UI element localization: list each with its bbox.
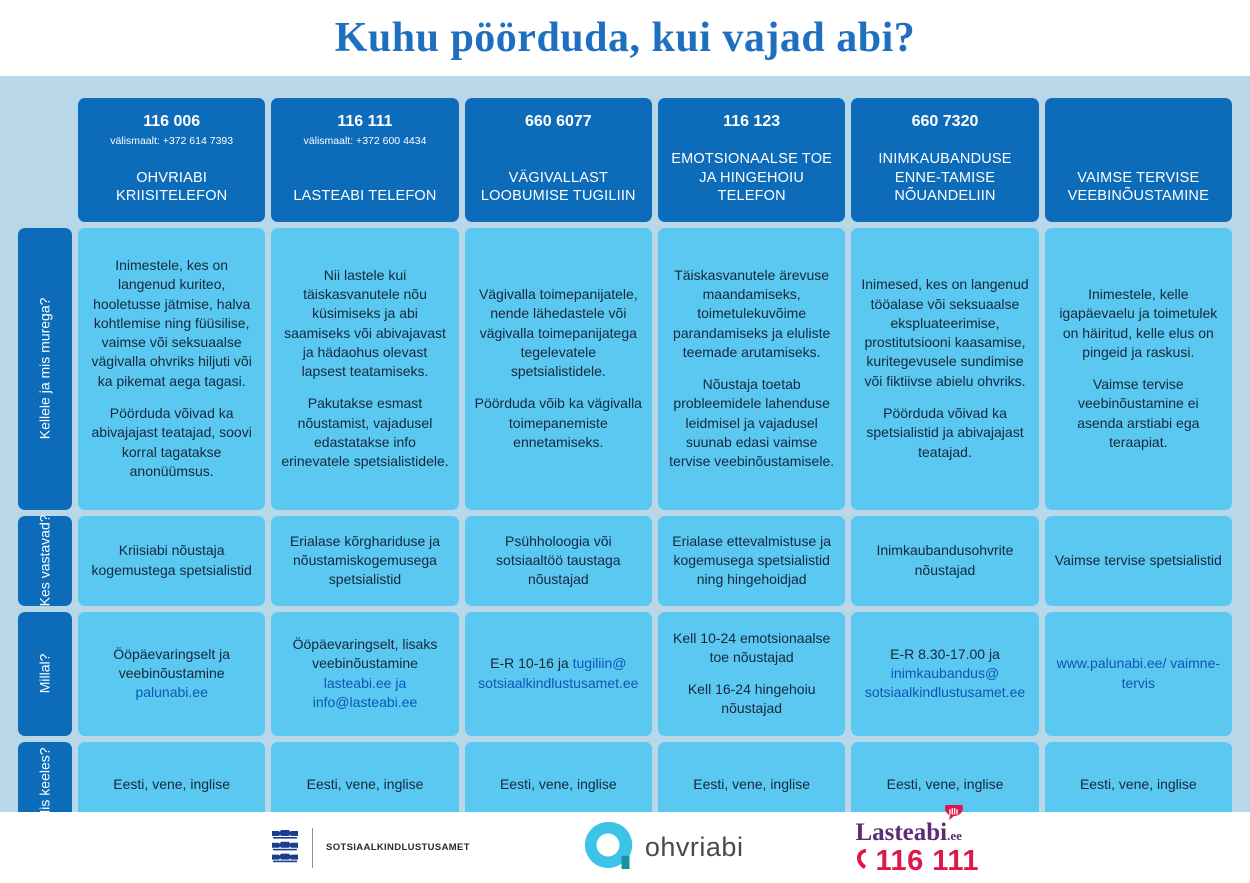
cell-link[interactable]: lasteabi.ee ja info@lasteabi.ee xyxy=(313,675,418,710)
table-cell[interactable]: Ööpäevaringselt ja veebinõustamine palun… xyxy=(78,612,265,736)
cell-paragraph: Inimkaubandusohvrite nõustajad xyxy=(860,541,1029,580)
phone-number: 660 7320 xyxy=(912,112,979,132)
cell-paragraph: Erialase ettevalmistuse ja kogemusega sp… xyxy=(667,532,836,590)
cell-paragraph: Ööpäevaringselt, lisaks veebinõustamine … xyxy=(280,635,449,712)
table-cell: Erialase ettevalmistuse ja kogemusega sp… xyxy=(658,516,845,606)
cell-paragraph: Inimestele, kelle igapäevaelu ja toimetu… xyxy=(1054,285,1223,362)
cell-paragraph: Nõustaja toetab probleemidele lahenduse … xyxy=(667,375,836,472)
footer-logos: Sotsiaalkindlustusamet ohvriabi Lasteabi… xyxy=(0,812,1250,883)
column-header-emotsionaalse-toe-telefon: 116 123 EMOTSIONAALSE TOE JA HINGEHOIU T… xyxy=(658,98,845,222)
cell-paragraph: Inimestele, kes on langenud kuriteo, hoo… xyxy=(87,256,256,391)
cell-paragraph: Pöörduda võivad ka spetsialistid ja abiv… xyxy=(860,404,1029,462)
cell-paragraph: Eesti, vene, inglise xyxy=(1080,775,1197,794)
phone-number: 116 111 xyxy=(337,112,392,132)
lasteabi-phone-number: 116 111 xyxy=(875,847,979,876)
cell-paragraph: E-R 10-16 ja tugiliin@ sotsiaalkindlustu… xyxy=(474,654,643,693)
column-header-vaimse-tervise-veebinoustamine: VAIMSE TERVISE VEEBINÕUSTAMINE xyxy=(1045,98,1232,222)
service-name: INIMKAUBANDUSE ENNE-TAMISE NÕUANDELIIN xyxy=(859,132,1030,206)
cell-paragraph: Ööpäevaringselt ja veebinõustamine palun… xyxy=(87,645,256,703)
estonian-coat-of-arms-icon xyxy=(271,828,299,867)
international-number: välismaalt: +372 600 4434 xyxy=(304,134,427,149)
service-name: VAIMSE TERVISE VEEBINÕUSTAMINE xyxy=(1053,151,1224,206)
cell-paragraph: Täiskasvanutele ärevuse maandamiseks, to… xyxy=(667,266,836,363)
ohvriabi-wordmark: ohvriabi xyxy=(645,832,744,863)
table-cell: Inimestele, kelle igapäevaelu ja toimetu… xyxy=(1045,228,1232,510)
service-name: VÄGIVALLAST LOOBUMISE TUGILIIN xyxy=(473,151,644,206)
cell-paragraph: www.palunabi.ee/ vaimne-tervis xyxy=(1054,654,1223,693)
row-label-text: Kes vastavad? xyxy=(37,515,54,607)
cell-paragraph: Vaimse tervise veebinõustamine ei asenda… xyxy=(1054,375,1223,452)
column-header-vagivallast-loobumise-tugiliin: 660 6077 VÄGIVALLAST LOOBUMISE TUGILIIN xyxy=(465,98,652,222)
helping-hand-icon xyxy=(942,805,966,830)
cell-paragraph: Vägivalla toimepanijatele, nende lähedas… xyxy=(474,285,643,382)
table-cell[interactable]: E-R 10-16 ja tugiliin@ sotsiaalkindlustu… xyxy=(465,612,652,736)
table-cell: Inimesed, kes on langenud tööalase või s… xyxy=(851,228,1038,510)
cell-paragraph: Pöörduda võivad ka abivajajast teatajad,… xyxy=(87,404,256,481)
help-services-table: 116 006 välismaalt: +372 614 7393 OHVRIA… xyxy=(18,98,1232,878)
table-cell: Nii lastele kui täiskasvanutele nõu küsi… xyxy=(271,228,458,510)
row-label-answers: Kes vastavad? xyxy=(18,516,72,606)
table-cell[interactable]: E-R 8.30-17.00 ja inimkaubandus@ sotsiaa… xyxy=(851,612,1038,736)
row-label-who: Kellele ja mis murega? xyxy=(18,228,72,510)
lasteabi-wordmark: Lasteabi.ee xyxy=(855,820,961,845)
phone-handset-icon xyxy=(855,847,870,876)
cell-paragraph: Eesti, vene, inglise xyxy=(113,775,230,794)
table-cell: Psühholoogia või sotsiaaltöö taustaga nõ… xyxy=(465,516,652,606)
cell-paragraph: Kell 16-24 hingehoiu nõustajad xyxy=(667,680,836,719)
ska-wordmark: Sotsiaalkindlustusamet xyxy=(326,842,470,853)
lasteabi-word: Lasteabi xyxy=(855,819,947,846)
cell-paragraph: Pöörduda võib ka vägivalla toimepanemist… xyxy=(474,394,643,452)
phone-number: 660 6077 xyxy=(525,112,592,132)
table-cell: Inimkaubandusohvrite nõustajad xyxy=(851,516,1038,606)
cell-paragraph: Eesti, vene, inglise xyxy=(307,775,424,794)
lasteabi-phone: 116 111 xyxy=(855,847,979,876)
row-label-when: Millal? xyxy=(18,612,72,736)
table-cell: Vaimse tervise spetsialistid xyxy=(1045,516,1232,606)
table-panel: 116 006 välismaalt: +372 614 7393 OHVRIA… xyxy=(0,76,1250,812)
table-cell: Kell 10-24 emotsionaalse toe nõustajadKe… xyxy=(658,612,845,736)
cell-paragraph: Nii lastele kui täiskasvanutele nõu küsi… xyxy=(280,266,449,382)
table-cell: Vägivalla toimepanijatele, nende lähedas… xyxy=(465,228,652,510)
infographic-page: Kuhu pöörduda, kui vajad abi? 116 006 vä… xyxy=(0,0,1250,883)
ohvriabi-mark-icon xyxy=(582,819,634,876)
table-cell[interactable]: www.palunabi.ee/ vaimne-tervis xyxy=(1045,612,1232,736)
table-cell: Kriisiabi nõustaja kogemustega spetsiali… xyxy=(78,516,265,606)
table-cell: Inimestele, kes on langenud kuriteo, hoo… xyxy=(78,228,265,510)
cell-link[interactable]: tugiliin@ sotsiaalkindlustusamet.ee xyxy=(478,655,638,690)
service-name: OHVRIABI KRIISITELEFON xyxy=(86,156,257,206)
service-name: LASTEABI TELEFON xyxy=(293,174,436,206)
phone-number: 116 123 xyxy=(723,112,780,132)
logo-ohvriabi: ohvriabi xyxy=(582,819,744,876)
cell-link[interactable]: www.palunabi.ee/ vaimne-tervis xyxy=(1057,655,1220,690)
page-title: Kuhu pöörduda, kui vajad abi? xyxy=(0,0,1250,76)
cell-paragraph: Eesti, vene, inglise xyxy=(693,775,810,794)
service-name: EMOTSIONAALSE TOE JA HINGEHOIU TELEFON xyxy=(666,132,837,206)
lasteabi-tld: .ee xyxy=(947,828,962,843)
logo-sotsiaalkindlustusamet: Sotsiaalkindlustusamet xyxy=(271,828,470,868)
row-label-text: Kellele ja mis murega? xyxy=(37,298,54,440)
row-label-text: Mis keeles? xyxy=(37,748,54,822)
cell-link[interactable]: palunabi.ee xyxy=(135,684,207,700)
table-cell: Erialase kõrghariduse ja nõustamiskogemu… xyxy=(271,516,458,606)
cell-paragraph: E-R 8.30-17.00 ja inimkaubandus@ sotsiaa… xyxy=(860,645,1029,703)
cell-paragraph: Inimesed, kes on langenud tööalase või s… xyxy=(860,275,1029,391)
table-corner-spacer xyxy=(18,98,72,222)
cell-paragraph: Erialase kõrghariduse ja nõustamiskogemu… xyxy=(280,532,449,590)
logo-divider xyxy=(312,828,313,868)
cell-paragraph: Psühholoogia või sotsiaaltöö taustaga nõ… xyxy=(474,532,643,590)
cell-paragraph: Eesti, vene, inglise xyxy=(500,775,617,794)
cell-paragraph: Kell 10-24 emotsionaalse toe nõustajad xyxy=(667,629,836,668)
phone-number: 116 006 xyxy=(143,112,200,132)
international-number: välismaalt: +372 614 7393 xyxy=(110,134,233,149)
table-cell[interactable]: Ööpäevaringselt, lisaks veebinõustamine … xyxy=(271,612,458,736)
cell-paragraph: Pakutakse esmast nõustamist, vajadusel e… xyxy=(280,394,449,471)
logo-lasteabi: Lasteabi.ee 116 111 xyxy=(855,820,979,876)
cell-paragraph: Vaimse tervise spetsialistid xyxy=(1055,551,1222,570)
cell-link[interactable]: inimkaubandus@ sotsiaalkindlustusamet.ee xyxy=(865,665,1025,700)
table-cell: Täiskasvanutele ärevuse maandamiseks, to… xyxy=(658,228,845,510)
column-header-ohvriabi-kriisitelefon: 116 006 välismaalt: +372 614 7393 OHVRIA… xyxy=(78,98,265,222)
column-header-inimkaubanduse-nouandeliin: 660 7320 INIMKAUBANDUSE ENNE-TAMISE NÕUA… xyxy=(851,98,1038,222)
column-header-lasteabi-telefon: 116 111 välismaalt: +372 600 4434 LASTEA… xyxy=(271,98,458,222)
cell-paragraph: Kriisiabi nõustaja kogemustega spetsiali… xyxy=(87,541,256,580)
cell-paragraph: Eesti, vene, inglise xyxy=(887,775,1004,794)
row-label-text: Millal? xyxy=(37,654,54,694)
